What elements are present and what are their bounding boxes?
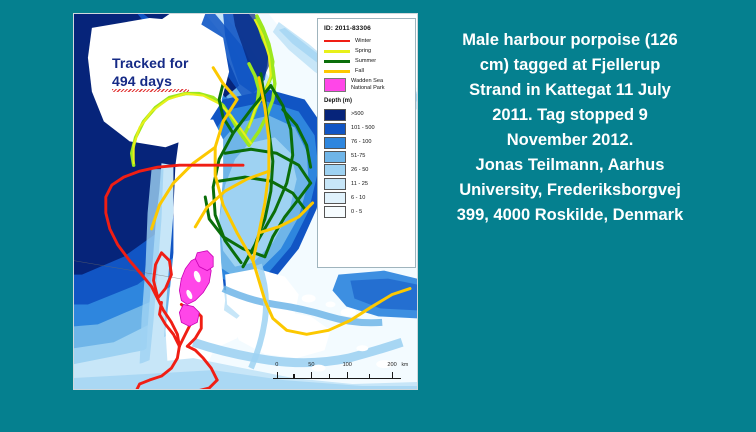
- scalebar-tickmark: [329, 374, 330, 379]
- scalebar-tickmark: [347, 372, 348, 379]
- caption-line-3-text: Strand in Kattegat 11 July: [469, 81, 671, 99]
- caption-line-5-text: November 2012.: [507, 131, 634, 149]
- depth-swatch-76-100: [324, 137, 346, 149]
- legend-tag-id: ID: 2011-83306: [324, 24, 411, 34]
- depth-swatch-26-50: [324, 164, 346, 176]
- depth-swatch-0-5: [324, 206, 346, 218]
- fall-line-swatch: [324, 70, 350, 73]
- slide-canvas: Tracked for 494 days ID: 2011-83306 Wint…: [0, 0, 756, 432]
- caption-line-2: cm) tagged at Fjellerup: [424, 53, 716, 78]
- legend-item-fall: Fall: [324, 68, 411, 75]
- caption-line-6: Jonas Teilmann, Aarhus: [424, 153, 716, 178]
- scalebar-tick-200: 200: [387, 362, 396, 368]
- legend-label-fall: Fall: [355, 68, 364, 75]
- caption-line-3: Strand in Kattegat 11 July: [424, 78, 716, 103]
- legend-label-depth-101-500: 101 - 500: [351, 125, 375, 132]
- caption-line-8: 399, 4000 Roskilde, Denmark: [424, 203, 716, 228]
- legend-item-winter: Winter: [324, 38, 411, 45]
- map-scalebar: 0 50 100 200 km: [273, 362, 401, 386]
- map-panel: Tracked for 494 days ID: 2011-83306 Wint…: [73, 13, 418, 390]
- caption-line-6-text: Jonas Teilmann, Aarhus: [476, 156, 665, 174]
- legend-label-depth-0-5: 0 - 5: [351, 209, 362, 216]
- legend-depth-gt500: >500: [324, 109, 411, 121]
- legend-depth-0-5: 0 - 5: [324, 206, 411, 218]
- caption-line-1-text: Male harbour porpoise (126: [462, 31, 677, 49]
- legend-depth-6-10: 6 - 10: [324, 192, 411, 204]
- depth-swatch-51-75: [324, 151, 346, 163]
- legend-item-summer: Summer: [324, 58, 411, 65]
- winter-line-swatch: [324, 40, 350, 43]
- map-legend: ID: 2011-83306 Winter Spring Summer Fall…: [317, 18, 416, 268]
- legend-label-wadden-sea: Wadden Sea National Park: [351, 78, 385, 92]
- legend-depth-51-75: 51-75: [324, 151, 411, 163]
- scalebar-tick-50: 50: [308, 362, 314, 368]
- legend-depth-11-25: 11 - 25: [324, 178, 411, 190]
- caption-line-4: 2011. Tag stopped 9: [424, 103, 716, 128]
- scalebar-tickmark: [277, 372, 278, 379]
- scalebar-axis-line: [273, 378, 401, 379]
- caption-text-block: Male harbour porpoise (126 cm) tagged at…: [424, 28, 716, 228]
- scalebar-tickmark: [392, 372, 393, 379]
- spring-line-swatch: [324, 50, 350, 53]
- legend-label-depth-26-50: 26 - 50: [351, 167, 368, 174]
- depth-swatch-gt500: [324, 109, 346, 121]
- caption-line-8-text: 399, 4000 Roskilde, Denmark: [457, 206, 684, 224]
- legend-label-spring: Spring: [355, 48, 371, 55]
- legend-depth-26-50: 26 - 50: [324, 164, 411, 176]
- legend-depth-title: Depth (m): [324, 97, 411, 106]
- legend-label-depth-76-100: 76 - 100: [351, 139, 372, 146]
- legend-label-summer: Summer: [355, 58, 376, 65]
- scalebar-tickmark: [311, 372, 312, 379]
- depth-swatch-11-25: [324, 178, 346, 190]
- legend-label-depth-gt500: >500: [351, 111, 364, 118]
- wadden-sea-swatch: [324, 78, 346, 92]
- scalebar-tickmark: [369, 374, 370, 379]
- legend-label-depth-6-10: 6 - 10: [351, 195, 365, 202]
- tracked-duration-label: Tracked for 494 days: [112, 36, 189, 90]
- scalebar-unit: km: [401, 362, 408, 368]
- caption-line-1: Male harbour porpoise (126: [424, 28, 716, 53]
- legend-item-spring: Spring: [324, 48, 411, 55]
- caption-line-2-text: cm) tagged at Fjellerup: [480, 56, 661, 74]
- caption-line-7-text: University, Frederiksborgvej: [459, 181, 681, 199]
- scalebar-tickmark: [293, 374, 294, 379]
- legend-label-winter: Winter: [355, 38, 371, 45]
- legend-label-depth-51-75: 51-75: [351, 153, 365, 160]
- legend-depth-101-500: 101 - 500: [324, 123, 411, 135]
- tracked-duration-text: Tracked for 494 days: [112, 54, 189, 90]
- scalebar-rule: [273, 372, 401, 381]
- scalebar-tick-0: 0: [275, 362, 278, 368]
- summer-line-swatch: [324, 60, 350, 63]
- caption-line-5: November 2012.: [424, 128, 716, 153]
- scalebar-labels: 0 50 100 200 km: [273, 362, 401, 371]
- caption-line-7: University, Frederiksborgvej: [424, 178, 716, 203]
- depth-swatch-101-500: [324, 123, 346, 135]
- scalebar-tick-100: 100: [343, 362, 352, 368]
- legend-label-depth-11-25: 11 - 25: [351, 181, 368, 188]
- caption-line-4-text: 2011. Tag stopped 9: [492, 106, 648, 124]
- legend-item-wadden-sea: Wadden Sea National Park: [324, 78, 411, 92]
- legend-depth-76-100: 76 - 100: [324, 137, 411, 149]
- depth-swatch-6-10: [324, 192, 346, 204]
